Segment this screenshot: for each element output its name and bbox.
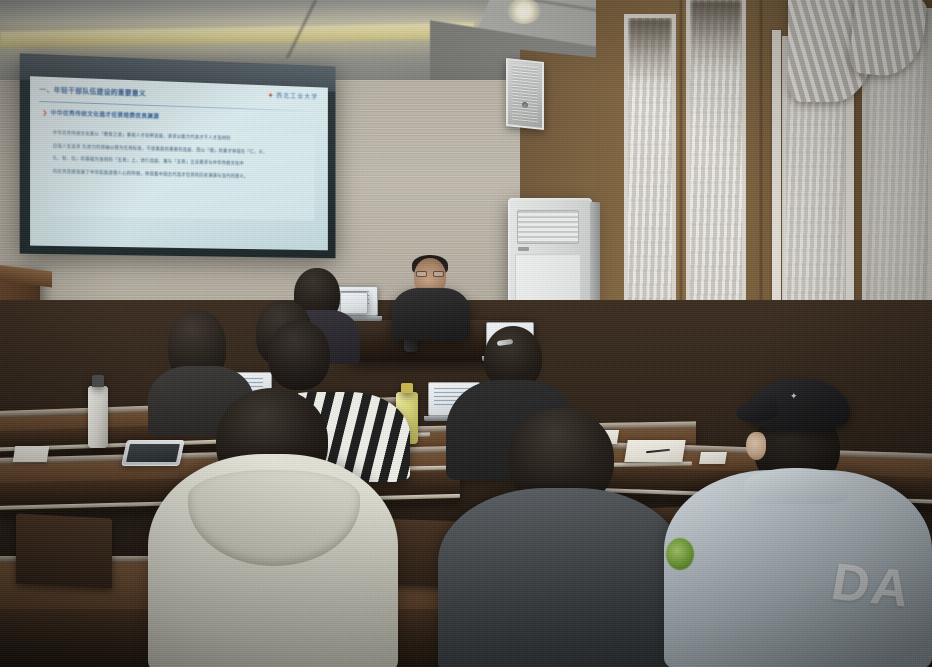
tablet-device — [121, 440, 185, 466]
window-2 — [686, 0, 746, 326]
slide-body: 中华优秀传统文化素以「教育之道」重视人才培养选拔，讲求以能力代表才干人才选材的 … — [49, 126, 315, 221]
attendee-striped-shirt-head — [268, 320, 330, 390]
logo-mark-icon: ✦ — [268, 92, 274, 99]
tablet-screen — [126, 444, 180, 462]
laptop-5 — [340, 292, 368, 314]
laptop-screen — [340, 292, 368, 314]
slide-subtitle-text: 中华优秀传统文化造才任贤培质优良渊源 — [51, 111, 159, 121]
chevron-right-icon: ❯ — [42, 110, 47, 116]
curtain-top-shadow — [628, 18, 672, 84]
thermos-bottle — [88, 386, 108, 448]
bottle-cap — [401, 383, 413, 392]
speaker-driver — [522, 101, 528, 108]
curtain-top-shadow — [690, 0, 742, 71]
chair-back — [16, 513, 112, 588]
sleeve-patch-icon — [666, 538, 694, 570]
presentation-slide: 一、年轻干部队伍建设的重要意义 ✦西北工业大学 ❯中华优秀传统文化造才任贤培质优… — [30, 76, 328, 250]
conference-room-photo: 一、年轻干部队伍建设的重要意义 ✦西北工业大学 ❯中华优秀传统文化造才任贤培质优… — [0, 0, 932, 667]
university-logo: ✦西北工业大学 — [268, 90, 318, 101]
glasses-lens-right — [433, 271, 444, 277]
notebook-papers — [699, 452, 727, 464]
jacket-back-text: DA — [827, 552, 916, 620]
speaker-grill — [512, 65, 538, 124]
notebook-papers — [13, 446, 50, 462]
glasses-icon — [416, 271, 444, 277]
presenter-body — [392, 288, 470, 340]
jacket-collar — [744, 468, 848, 504]
window-1 — [624, 14, 676, 324]
slide-subtitle: ❯中华优秀传统文化造才任贤培质优良渊源 — [42, 108, 159, 120]
wall-speaker — [506, 58, 544, 130]
bottle-cap — [92, 375, 103, 386]
ear — [746, 432, 766, 460]
cap-logo-icon: ✦ — [790, 392, 804, 401]
ac-brand-logo — [518, 247, 529, 251]
attendee-front-gray-body — [438, 488, 684, 667]
glasses-lens-left — [416, 271, 427, 277]
ac-vent-grill — [517, 210, 579, 244]
projection-screen: 一、年轻干部队伍建设的重要意义 ✦西北工业大学 ❯中华优秀传统文化造才任贤培质优… — [20, 53, 336, 258]
